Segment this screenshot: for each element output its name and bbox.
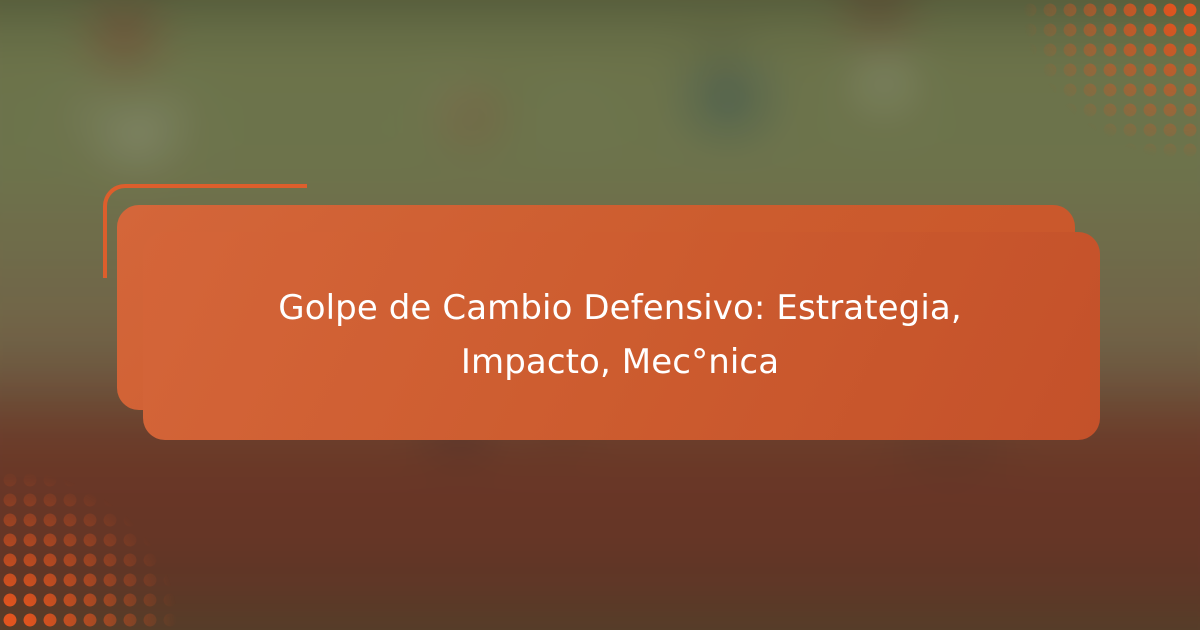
title-container: Golpe de Cambio Defensivo: Estrategia, I… [160, 232, 1080, 440]
social-share-card: Golpe de Cambio Defensivo: Estrategia, I… [0, 0, 1200, 630]
page-title: Golpe de Cambio Defensivo: Estrategia, I… [270, 282, 970, 389]
